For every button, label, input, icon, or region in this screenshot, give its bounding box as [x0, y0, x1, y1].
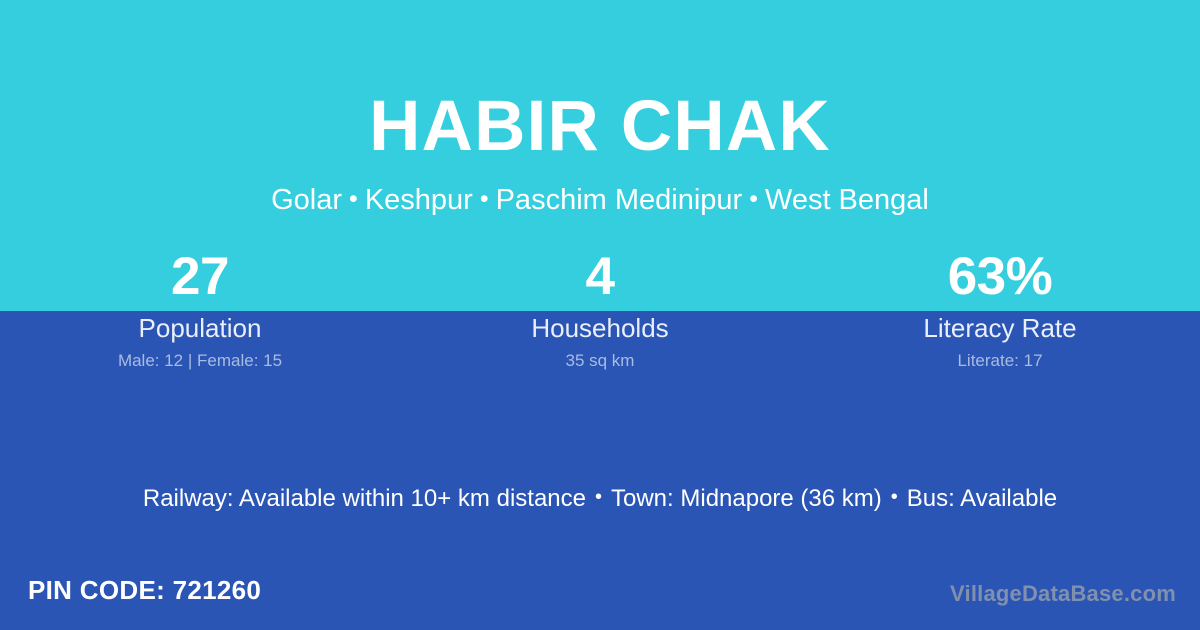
stat-population-sub: Male: 12 | Female: 15 [0, 350, 400, 372]
stat-households-sub: 35 sq km [400, 350, 800, 372]
infra-item-bus: Bus: Available [907, 485, 1057, 512]
stat-literacy-rate-label: Literacy Rate [800, 312, 1200, 344]
card-footer: PIN CODE: 721260 VillageDataBase.com [0, 570, 1200, 616]
infra-item-town: Town: Midnapore (36 km) [611, 485, 882, 512]
village-info-card: HABIR CHAK Golar•Keshpur•Paschim Medinip… [0, 0, 1200, 630]
infra-separator-icon: • [586, 486, 611, 508]
breadcrumb-item-block: Keshpur [365, 184, 473, 216]
stat-population: 27 Population Male: 12 | Female: 15 [0, 246, 400, 372]
infra-separator-icon: • [882, 486, 907, 508]
breadcrumb-item-panchayat: Golar [271, 184, 342, 216]
stat-households: 4 Households 35 sq km [400, 246, 800, 372]
stat-households-label: Households [400, 312, 800, 344]
stat-population-label: Population [0, 312, 400, 344]
stat-population-value: 27 [0, 246, 400, 308]
pin-code: PIN CODE: 721260 [28, 570, 261, 610]
breadcrumb-item-state: West Bengal [765, 184, 929, 216]
breadcrumb-separator-icon: • [342, 185, 365, 213]
breadcrumb-separator-icon: • [742, 185, 765, 213]
stat-households-value: 4 [400, 246, 800, 308]
infra-item-railway: Railway: Available within 10+ km distanc… [143, 485, 586, 512]
infrastructure-line: Railway: Available within 10+ km distanc… [0, 483, 1200, 516]
page-title: HABIR CHAK [0, 84, 1200, 170]
breadcrumb-separator-icon: • [473, 185, 496, 213]
breadcrumb-item-district: Paschim Medinipur [496, 184, 743, 216]
stat-literacy-rate-value: 63% [800, 246, 1200, 308]
stat-literacy-rate-sub: Literate: 17 [800, 350, 1200, 372]
breadcrumb: Golar•Keshpur•Paschim Medinipur•West Ben… [0, 182, 1200, 219]
stats-row: 27 Population Male: 12 | Female: 15 4 Ho… [0, 246, 1200, 372]
site-watermark: VillageDataBase.com [950, 578, 1176, 610]
stat-literacy-rate: 63% Literacy Rate Literate: 17 [800, 246, 1200, 372]
